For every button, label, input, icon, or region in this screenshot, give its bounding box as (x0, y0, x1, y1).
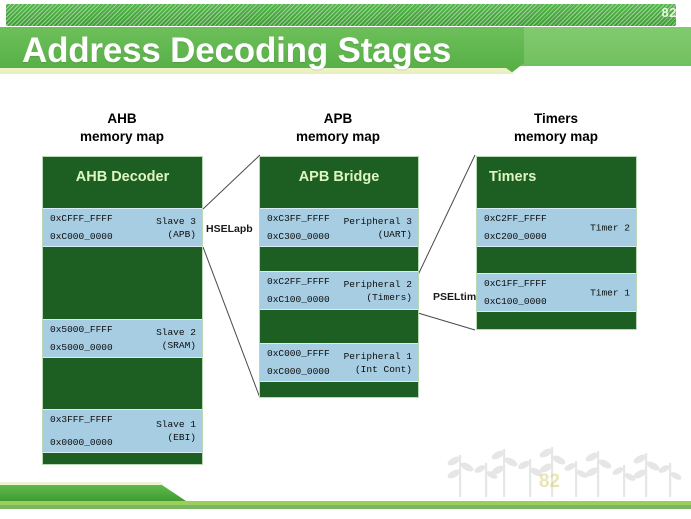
memory-map-ahb: AHB Decoder 0xCFFF_FFFF 0xC000_0000 Slav… (42, 156, 203, 465)
band-high-address: 0xC000_FFFF (267, 348, 330, 359)
band-high-address: 0x3FFF_FFFF (50, 414, 113, 425)
memory-map-ahb-title: AHB Decoder (43, 169, 202, 185)
band-low-address: 0xC300_0000 (267, 231, 330, 242)
memory-band-apb-peripheral2: 0xC2FF_FFFF 0xC100_0000 Peripheral 2 (Ti… (260, 271, 418, 310)
column-heading-apb: APB memory map (258, 110, 418, 146)
band-low-address: 0x0000_0000 (50, 437, 113, 448)
column-heading-ahb: AHB memory map (42, 110, 202, 146)
footer-bar (0, 485, 230, 501)
memory-map-timers: Timers 0xC2FF_FFFF 0xC200_0000 Timer 2 0… (476, 156, 637, 330)
memory-band-apb-peripheral3: 0xC3FF_FFFF 0xC300_0000 Peripheral 3 (UA… (260, 208, 418, 247)
band-name: Timer 2 (590, 221, 630, 234)
column-heading-timers: Timers memory map (476, 110, 636, 146)
memory-map-timers-title: Timers (477, 169, 648, 185)
band-name: Peripheral 3 (UART) (344, 215, 412, 241)
footer-page-watermark: 82 (539, 471, 560, 493)
memory-map-apb: APB Bridge 0xC3FF_FFFF 0xC300_0000 Perip… (259, 156, 419, 398)
column-heading-timers-line2: memory map (476, 128, 636, 146)
memory-band-timer1: 0xC1FF_FFFF 0xC100_0000 Timer 1 (477, 273, 636, 312)
band-high-address: 0xC2FF_FFFF (267, 276, 330, 287)
header-underline-white (0, 74, 691, 79)
band-name: Slave 2 (SRAM) (156, 326, 196, 352)
band-low-address: 0xC100_0000 (267, 294, 330, 305)
connector-label-hselapb: HSELapb (204, 222, 255, 236)
slide: 82 Address Decoding Stages HSELapb PSELt… (0, 0, 691, 519)
band-high-address: 0xC2FF_FFFF (484, 213, 547, 224)
footer-bar-highlight (0, 482, 200, 485)
band-name: Timer 1 (590, 286, 630, 299)
footer-stripe-dark (0, 505, 691, 509)
memory-band-apb-peripheral1: 0xC000_FFFF 0xC000_0000 Peripheral 1 (In… (260, 343, 418, 382)
memory-band-ahb-slave1: 0x3FFF_FFFF 0x0000_0000 Slave 1 (EBI) (43, 409, 202, 453)
column-heading-apb-line1: APB (258, 110, 418, 128)
band-high-address: 0x5000_FFFF (50, 324, 113, 335)
band-high-address: 0xC3FF_FFFF (267, 213, 330, 224)
band-low-address: 0xC000_0000 (50, 231, 113, 242)
band-name: Slave 3 (APB) (156, 215, 196, 241)
band-name: Peripheral 1 (Int Cont) (344, 350, 412, 376)
column-heading-apb-line2: memory map (258, 128, 418, 146)
band-high-address: 0xCFFF_FFFF (50, 213, 113, 224)
band-name: Slave 1 (EBI) (156, 418, 196, 444)
memory-band-ahb-slave3: 0xCFFF_FFFF 0xC000_0000 Slave 3 (APB) (43, 208, 202, 247)
column-heading-timers-line1: Timers (476, 110, 636, 128)
page-title: Address Decoding Stages (22, 27, 451, 74)
band-low-address: 0x5000_0000 (50, 342, 113, 353)
memory-map-apb-title: APB Bridge (260, 169, 444, 185)
header-hatch-band (6, 4, 676, 26)
memory-band-ahb-slave2: 0x5000_FFFF 0x5000_0000 Slave 2 (SRAM) (43, 319, 202, 358)
header-band-tail (504, 27, 691, 66)
grass-decoration (441, 441, 691, 501)
band-low-address: 0xC000_0000 (267, 366, 330, 377)
page-number: 82 (662, 5, 677, 20)
band-high-address: 0xC1FF_FFFF (484, 278, 547, 289)
band-name: Peripheral 2 (Timers) (344, 278, 412, 304)
band-low-address: 0xC100_0000 (484, 296, 547, 307)
memory-band-timer2: 0xC2FF_FFFF 0xC200_0000 Timer 2 (477, 208, 636, 247)
band-low-address: 0xC200_0000 (484, 231, 547, 242)
column-heading-ahb-line1: AHB (42, 110, 202, 128)
connector-label-pseltim: PSELtim (431, 290, 478, 304)
column-heading-ahb-line2: memory map (42, 128, 202, 146)
